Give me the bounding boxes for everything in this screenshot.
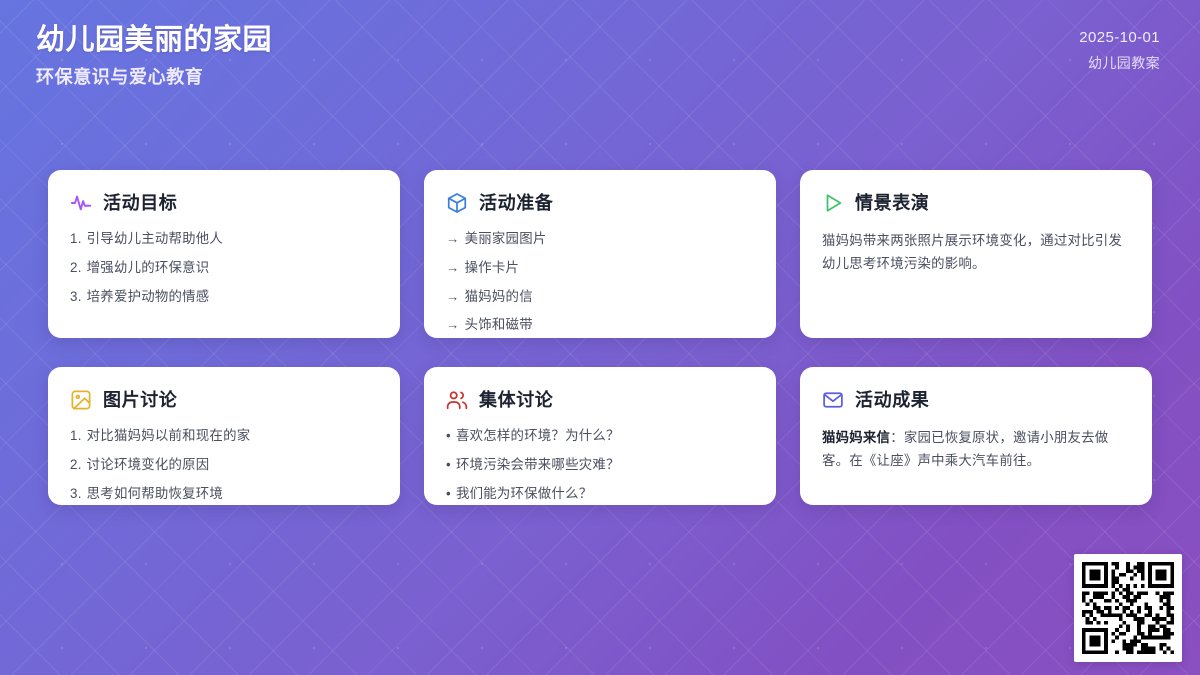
header-category: 幼儿园教案 bbox=[1079, 56, 1160, 70]
list-item-marker: 1. bbox=[70, 229, 82, 250]
list-item-marker: 3. bbox=[70, 287, 82, 308]
card-paragraph: 猫妈妈带来两张照片展示环境变化，通过对比引发幼儿思考环境污染的影响。 bbox=[822, 229, 1130, 276]
list-item-label: 猫妈妈的信 bbox=[465, 287, 754, 308]
card-header: 情景表演 bbox=[822, 192, 1130, 214]
card-header: 活动准备 bbox=[446, 192, 754, 214]
image-photo-icon bbox=[70, 389, 92, 411]
qr-code[interactable] bbox=[1074, 554, 1182, 662]
list-item-label: 增强幼儿的环保意识 bbox=[87, 258, 378, 279]
card-activity-goals: 活动目标1.引导幼儿主动帮助他人2.增强幼儿的环保意识3.培养爱护动物的情感 bbox=[48, 170, 400, 338]
list-item: →猫妈妈的信 bbox=[446, 287, 754, 308]
list-item: 1.对比猫妈妈以前和现在的家 bbox=[70, 426, 378, 447]
envelope-mail-icon bbox=[822, 389, 844, 411]
list-item-label: 头饰和磁带 bbox=[465, 315, 754, 336]
box-cube-icon bbox=[446, 192, 468, 214]
list-item-label: 讨论环境变化的原因 bbox=[87, 455, 378, 476]
list-item: →头饰和磁带 bbox=[446, 315, 754, 336]
list-item-marker: 1. bbox=[70, 426, 82, 447]
list-item: →操作卡片 bbox=[446, 258, 754, 279]
page-subtitle: 环保意识与爱心教育 bbox=[36, 68, 272, 86]
list-item-marker: → bbox=[446, 258, 460, 279]
list-item-marker: • bbox=[446, 484, 451, 505]
card-list: •喜欢怎样的环境？为什么？•环境污染会带来哪些灾难？•我们能为环保做什么？ bbox=[446, 426, 754, 504]
list-item: •我们能为环保做什么？ bbox=[446, 484, 754, 505]
list-item: •喜欢怎样的环境？为什么？ bbox=[446, 426, 754, 447]
card-title: 情景表演 bbox=[855, 194, 929, 212]
list-item-marker: 2. bbox=[70, 258, 82, 279]
card-title: 活动目标 bbox=[103, 194, 177, 212]
list-item: 3.培养爱护动物的情感 bbox=[70, 287, 378, 308]
card-list: 1.对比猫妈妈以前和现在的家2.讨论环境变化的原因3.思考如何帮助恢复环境 bbox=[70, 426, 378, 504]
list-item-label: 引导幼儿主动帮助他人 bbox=[87, 229, 378, 250]
activity-pulse-icon bbox=[70, 192, 92, 214]
card-title: 图片讨论 bbox=[103, 391, 177, 409]
list-item-label: 美丽家园图片 bbox=[465, 229, 754, 250]
card-list: 1.引导幼儿主动帮助他人2.增强幼儿的环保意识3.培养爱护动物的情感 bbox=[70, 229, 378, 307]
play-triangle-icon bbox=[822, 192, 844, 214]
title-block: 幼儿园美丽的家园 环保意识与爱心教育 bbox=[36, 26, 272, 86]
slide-header: 幼儿园美丽的家园 环保意识与爱心教育 2025-10-01 幼儿园教案 bbox=[0, 0, 1200, 140]
list-item-label: 对比猫妈妈以前和现在的家 bbox=[87, 426, 378, 447]
card-header: 活动成果 bbox=[822, 389, 1130, 411]
card-paragraph-lead: 猫妈妈来信 bbox=[822, 430, 890, 445]
list-item-marker: → bbox=[446, 315, 460, 336]
list-item: →美丽家园图片 bbox=[446, 229, 754, 250]
card-header: 集体讨论 bbox=[446, 389, 754, 411]
cards-grid: 活动目标1.引导幼儿主动帮助他人2.增强幼儿的环保意识3.培养爱护动物的情感活动… bbox=[48, 170, 1152, 505]
header-meta: 2025-10-01 幼儿园教案 bbox=[1079, 26, 1160, 70]
list-item-label: 喜欢怎样的环境？为什么？ bbox=[456, 426, 754, 447]
card-picture-discussion: 图片讨论1.对比猫妈妈以前和现在的家2.讨论环境变化的原因3.思考如何帮助恢复环… bbox=[48, 367, 400, 505]
slide-root: 幼儿园美丽的家园 环保意识与爱心教育 2025-10-01 幼儿园教案 活动目标… bbox=[0, 0, 1200, 675]
card-list: →美丽家园图片→操作卡片→猫妈妈的信→头饰和磁带 bbox=[446, 229, 754, 336]
list-item-label: 培养爱护动物的情感 bbox=[87, 287, 378, 308]
card-title: 集体讨论 bbox=[479, 391, 553, 409]
card-header: 活动目标 bbox=[70, 192, 378, 214]
card-group-discussion: 集体讨论•喜欢怎样的环境？为什么？•环境污染会带来哪些灾难？•我们能为环保做什么… bbox=[424, 367, 776, 505]
list-item-marker: 2. bbox=[70, 455, 82, 476]
card-header: 图片讨论 bbox=[70, 389, 378, 411]
qr-code-image bbox=[1082, 562, 1174, 654]
list-item-label: 思考如何帮助恢复环境 bbox=[87, 484, 378, 505]
list-item-label: 我们能为环保做什么？ bbox=[456, 484, 754, 505]
list-item-marker: → bbox=[446, 229, 460, 250]
card-paragraph: 猫妈妈来信：家园已恢复原状，邀请小朋友去做客。在《让座》声中乘大汽车前往。 bbox=[822, 426, 1130, 473]
list-item-label: 环境污染会带来哪些灾难？ bbox=[456, 455, 754, 476]
page-title: 幼儿园美丽的家园 bbox=[36, 26, 272, 55]
card-scene-performance: 情景表演猫妈妈带来两张照片展示环境变化，通过对比引发幼儿思考环境污染的影响。 bbox=[800, 170, 1152, 338]
users-group-icon bbox=[446, 389, 468, 411]
list-item: •环境污染会带来哪些灾难？ bbox=[446, 455, 754, 476]
list-item-marker: → bbox=[446, 287, 460, 308]
list-item-marker: • bbox=[446, 426, 451, 447]
list-item: 2.增强幼儿的环保意识 bbox=[70, 258, 378, 279]
list-item: 1.引导幼儿主动帮助他人 bbox=[70, 229, 378, 250]
list-item-marker: 3. bbox=[70, 484, 82, 505]
card-title: 活动准备 bbox=[479, 194, 553, 212]
list-item: 2.讨论环境变化的原因 bbox=[70, 455, 378, 476]
header-date: 2025-10-01 bbox=[1079, 30, 1160, 45]
card-title: 活动成果 bbox=[855, 391, 929, 409]
card-activity-preparation: 活动准备→美丽家园图片→操作卡片→猫妈妈的信→头饰和磁带 bbox=[424, 170, 776, 338]
list-item-label: 操作卡片 bbox=[465, 258, 754, 279]
card-activity-outcome: 活动成果猫妈妈来信：家园已恢复原状，邀请小朋友去做客。在《让座》声中乘大汽车前往… bbox=[800, 367, 1152, 505]
list-item: 3.思考如何帮助恢复环境 bbox=[70, 484, 378, 505]
list-item-marker: • bbox=[446, 455, 451, 476]
